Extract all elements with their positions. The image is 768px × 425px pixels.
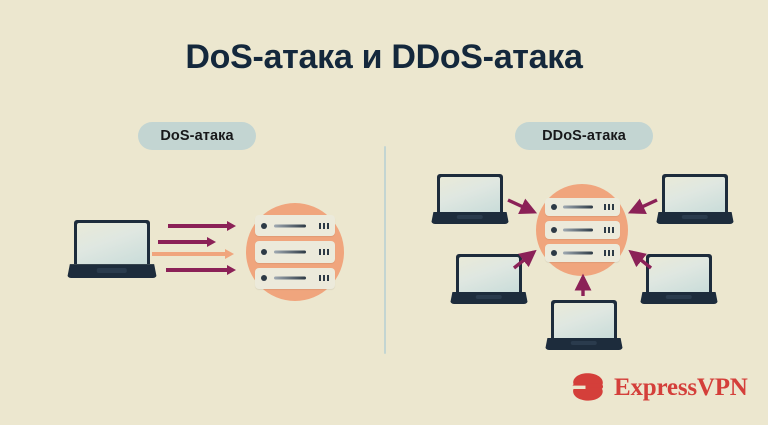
laptop-trackpad [97,268,127,273]
laptop-screen [459,257,519,292]
ddos-arrow-top-left [508,200,534,212]
arrow-shaft [166,268,229,272]
laptop-trackpad [666,295,692,299]
laptop-bot-bottom-right [646,254,712,304]
server-rack-unit [255,215,335,236]
server-rack-unit [255,241,335,262]
panel-divider [384,146,386,354]
server-rack-unit [545,198,620,216]
laptop-lid [74,220,150,264]
arrow-head-icon [225,249,234,259]
traffic-arrow-1 [168,224,236,228]
laptop-trackpad [682,215,708,219]
laptop-base [656,212,734,224]
traffic-arrow-4 [166,268,236,272]
rack-slot-line [563,252,593,255]
laptop-bot-top-left [437,174,503,224]
laptop-lid [551,300,617,338]
rack-indicator-dot [261,223,267,229]
laptop-base [640,292,718,304]
rack-led-bars [604,204,614,210]
label-dos-attack: DoS-атака [138,122,256,150]
expressvpn-e-mark-icon [571,372,605,402]
rack-slot-line [274,224,306,227]
expressvpn-logo: ExpressVPN [571,372,748,402]
laptop-lid [662,174,728,212]
server-rack-icon-ddos [545,198,620,262]
server-rack-unit [255,268,335,289]
laptop-screen [665,177,725,212]
rack-indicator-dot [261,275,267,281]
laptop-screen [554,303,614,338]
server-rack-icon-dos [255,215,335,289]
laptop-bot-bottom-center [551,300,617,350]
laptop-lid [456,254,522,292]
arrow-shaft [152,252,227,256]
laptop-trackpad [476,295,502,299]
laptop-screen [77,223,147,264]
ddos-arrow-top-right [631,200,657,212]
laptop-screen [649,257,709,292]
rack-indicator-dot [551,227,557,233]
laptop-trackpad [457,215,483,219]
arrow-head-icon [227,221,236,231]
page-title: DoS-атака и DDoS-атака [0,38,768,77]
rack-indicator-dot [551,250,557,256]
laptop-lid [646,254,712,292]
rack-led-bars [604,250,614,256]
expressvpn-logo-text: ExpressVPN [614,375,748,400]
rack-led-bars [319,249,329,255]
server-rack-unit [545,244,620,262]
laptop-bot-bottom-left [456,254,522,304]
rack-led-bars [604,227,614,233]
arrow-shaft [168,224,229,228]
rack-slot-line [563,229,593,232]
server-rack-unit [545,221,620,239]
infographic-canvas: DoS-атака и DDoS-атака DoS-атака DDoS-ат… [0,0,768,425]
rack-slot-line [563,206,593,209]
laptop-screen [440,177,500,212]
rack-slot-line [274,277,306,280]
laptop-base [431,212,509,224]
rack-indicator-dot [261,249,267,255]
traffic-arrow-3 [152,252,234,256]
rack-led-bars [319,275,329,281]
laptop-attacker-dos [74,220,150,278]
laptop-base [450,292,528,304]
rack-slot-line [274,250,306,253]
laptop-trackpad [571,341,597,345]
laptop-lid [437,174,503,212]
traffic-arrow-2 [158,240,216,244]
arrow-head-icon [227,265,236,275]
laptop-base [67,264,157,278]
label-ddos-attack: DDoS-атака [515,122,653,150]
arrow-shaft [158,240,209,244]
laptop-bot-top-right [662,174,728,224]
laptop-base [545,338,623,350]
arrow-head-icon [207,237,216,247]
rack-indicator-dot [551,204,557,210]
rack-led-bars [319,223,329,229]
